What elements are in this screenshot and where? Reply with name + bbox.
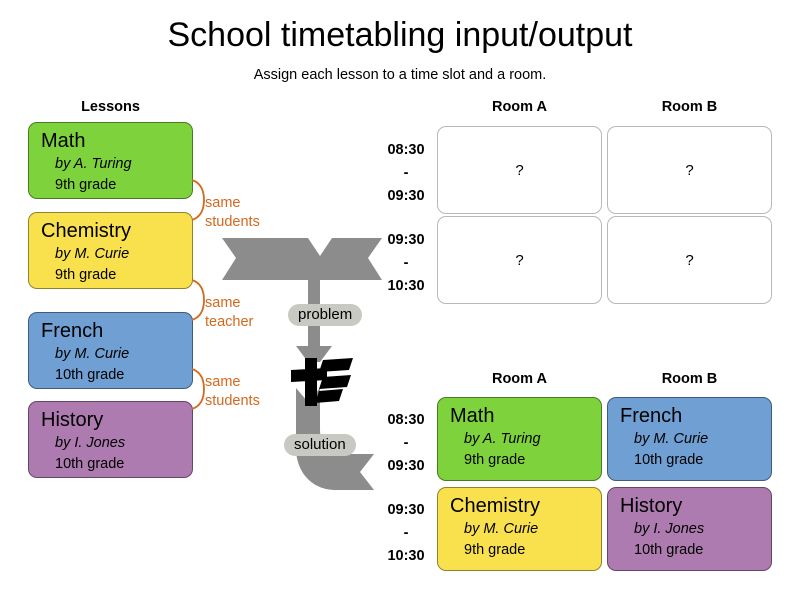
lesson-subject: Math — [41, 129, 182, 154]
lesson-subject: Math — [450, 404, 591, 429]
problem-timeslot-0: 08:30 - 09:30 — [375, 139, 437, 208]
problem-room-header-a: Room A — [437, 99, 602, 115]
timeslot-dash: - — [375, 252, 437, 275]
problem-room-header-b: Room B — [607, 99, 772, 115]
timeslot-start: 09:30 — [375, 499, 437, 522]
solution-cell-french[interactable]: French by M. Curie 10th grade — [607, 397, 772, 481]
timeslot-dash: - — [375, 522, 437, 545]
timeslot-end: 10:30 — [375, 545, 437, 568]
problem-cell-1-0[interactable]: ? — [437, 216, 602, 304]
solution-badge: solution — [284, 434, 356, 456]
timeslot-dash: - — [375, 432, 437, 455]
page-subtitle: Assign each lesson to a time slot and a … — [0, 67, 800, 83]
solution-cell-history[interactable]: History by I. Jones 10th grade — [607, 487, 772, 571]
solution-room-header-a: Room A — [437, 371, 602, 387]
timeslot-start: 09:30 — [375, 229, 437, 252]
lesson-grade: 10th grade — [620, 450, 761, 471]
solution-timeslot-1: 09:30 - 10:30 — [375, 499, 437, 568]
problem-arrow — [222, 238, 382, 362]
lesson-grade: 10th grade — [41, 365, 182, 386]
lesson-grade: 9th grade — [450, 540, 591, 561]
timeslot-end: 09:30 — [375, 455, 437, 478]
lesson-grade: 9th grade — [41, 175, 182, 196]
lesson-teacher: by I. Jones — [620, 519, 761, 540]
lesson-subject: History — [620, 494, 761, 519]
lesson-teacher: by M. Curie — [620, 429, 761, 450]
lesson-subject: History — [41, 408, 182, 433]
problem-timeslot-1: 09:30 - 10:30 — [375, 229, 437, 298]
problem-cell-0-0[interactable]: ? — [437, 126, 602, 214]
lesson-teacher: by A. Turing — [41, 154, 182, 175]
lesson-card-history[interactable]: History by I. Jones 10th grade — [28, 401, 193, 478]
lesson-card-math[interactable]: Math by A. Turing 9th grade — [28, 122, 193, 199]
lesson-teacher: by M. Curie — [41, 244, 182, 265]
lesson-card-chemistry[interactable]: Chemistry by M. Curie 9th grade — [28, 212, 193, 289]
timeslot-start: 08:30 — [375, 139, 437, 162]
problem-cell-1-1[interactable]: ? — [607, 216, 772, 304]
lesson-subject: Chemistry — [41, 219, 182, 244]
constraint-line-1: same — [205, 194, 260, 213]
solution-room-header-b: Room B — [607, 371, 772, 387]
lesson-card-french[interactable]: French by M. Curie 10th grade — [28, 312, 193, 389]
diagram-canvas: School timetabling input/output Assign e… — [0, 0, 800, 600]
lessons-heading: Lessons — [28, 99, 193, 115]
constraint-label-same-students-1: same students — [205, 194, 260, 232]
lesson-subject: French — [41, 319, 182, 344]
page-title: School timetabling input/output — [0, 16, 800, 55]
solution-cell-math[interactable]: Math by A. Turing 9th grade — [437, 397, 602, 481]
timefold-logo — [289, 358, 355, 406]
lesson-teacher: by I. Jones — [41, 433, 182, 454]
lesson-grade: 9th grade — [450, 450, 591, 471]
lesson-subject: Chemistry — [450, 494, 591, 519]
timeslot-dash: - — [375, 162, 437, 185]
solution-cell-chemistry[interactable]: Chemistry by M. Curie 9th grade — [437, 487, 602, 571]
lesson-teacher: by A. Turing — [450, 429, 591, 450]
lesson-teacher: by M. Curie — [41, 344, 182, 365]
problem-cell-0-1[interactable]: ? — [607, 126, 772, 214]
timeslot-end: 10:30 — [375, 275, 437, 298]
problem-badge: problem — [288, 304, 362, 326]
lesson-grade: 10th grade — [41, 454, 182, 475]
lesson-teacher: by M. Curie — [450, 519, 591, 540]
lesson-grade: 10th grade — [620, 540, 761, 561]
solution-timeslot-0: 08:30 - 09:30 — [375, 409, 437, 478]
timeslot-start: 08:30 — [375, 409, 437, 432]
lesson-subject: French — [620, 404, 761, 429]
timeslot-end: 09:30 — [375, 185, 437, 208]
lesson-grade: 9th grade — [41, 265, 182, 286]
